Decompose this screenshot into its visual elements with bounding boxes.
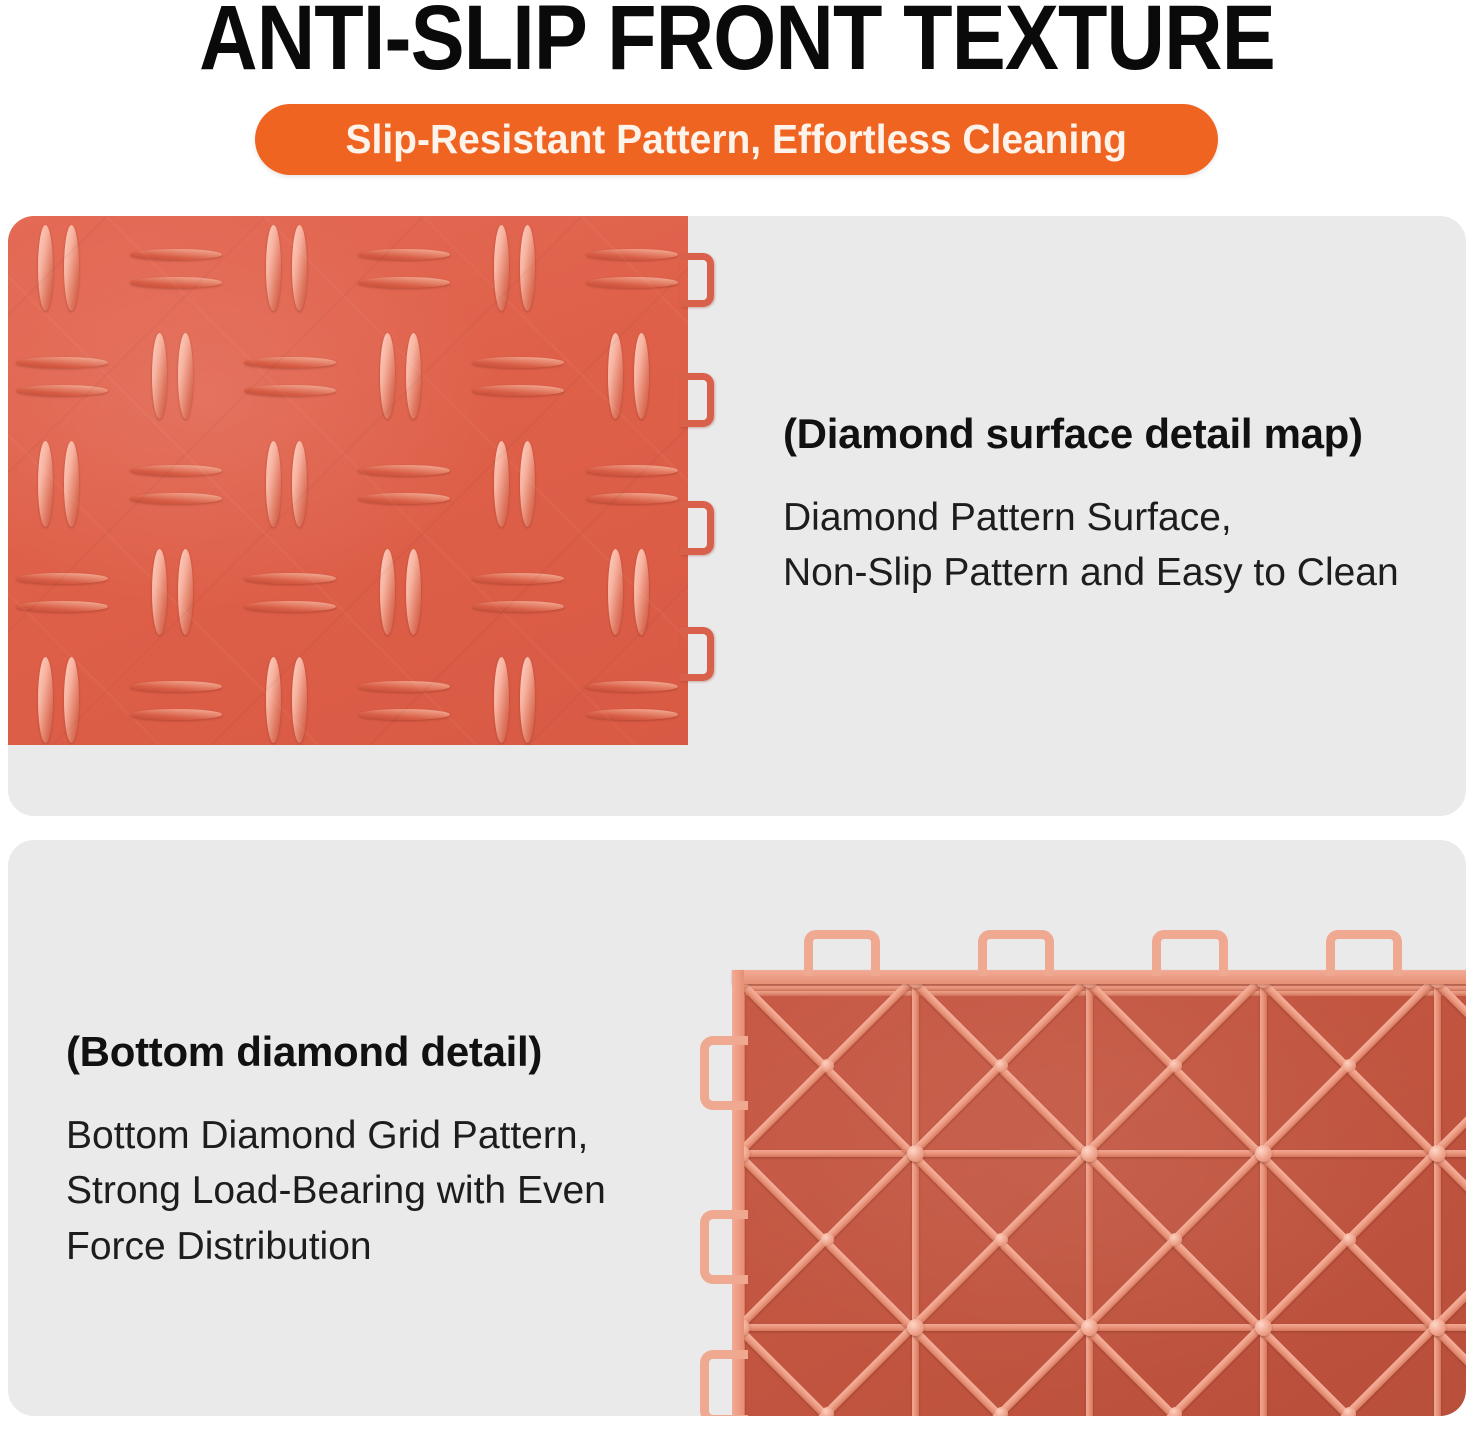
diamond-lens-icon xyxy=(380,333,395,419)
diamond-lens-icon xyxy=(520,657,535,743)
grid-node xyxy=(907,1145,924,1162)
interlock-tab-icon xyxy=(804,930,880,976)
diamond-lens-icon xyxy=(16,601,108,612)
diamond-plate-cell xyxy=(350,541,462,647)
diamond-lens-icon xyxy=(244,601,336,612)
diamond-plate-cell xyxy=(578,649,688,745)
diamond-lens-icon xyxy=(16,385,108,396)
subtitle-badge: Slip-Resistant Pattern, Effortless Clean… xyxy=(255,104,1218,175)
caption-body: Bottom Diamond Grid Pattern, Strong Load… xyxy=(66,1108,706,1274)
diamond-plate-cell xyxy=(122,433,234,539)
diamond-plate-cell xyxy=(8,649,120,745)
caption-title: (Bottom diamond detail) xyxy=(66,1030,706,1074)
diamond-lens-icon xyxy=(292,441,307,527)
grid-nub xyxy=(1343,1059,1356,1072)
bottom-grid-caption: (Bottom diamond detail) Bottom Diamond G… xyxy=(66,1030,706,1274)
diamond-lens-icon xyxy=(520,441,535,527)
grid-diagonal-rib xyxy=(1257,1325,1437,1416)
diamond-plate-cell xyxy=(578,325,688,431)
diamond-lens-icon xyxy=(586,681,678,692)
interlock-tab-icon xyxy=(680,627,714,681)
diamond-lens-icon xyxy=(472,573,564,584)
interlock-tab-icon xyxy=(1326,930,1402,976)
diamond-plate-cell xyxy=(8,217,120,323)
subtitle-badge-label: Slip-Resistant Pattern, Effortless Clean… xyxy=(346,116,1127,163)
grid-nub xyxy=(821,1059,834,1072)
diamond-lens-icon xyxy=(130,465,222,476)
diamond-plate-cell xyxy=(236,649,348,745)
grid-diagonal-rib xyxy=(738,1325,915,1416)
grid-rib-vertical xyxy=(1434,976,1441,1416)
diamond-lens-icon xyxy=(244,573,336,584)
diamond-lens-icon xyxy=(358,249,450,260)
diamond-lens-icon xyxy=(178,549,193,635)
diamond-lens-icon xyxy=(494,441,509,527)
grid-node xyxy=(1255,1319,1272,1336)
grid-nub xyxy=(821,1233,834,1246)
interlock-tab-icon xyxy=(700,1210,748,1284)
interlock-tab-icon xyxy=(680,501,714,555)
grid-rib-vertical xyxy=(912,976,919,1416)
grid-nub xyxy=(995,1407,1008,1416)
diamond-plate-cell xyxy=(350,649,462,745)
diamond-plate-texture xyxy=(8,216,688,745)
diamond-plate-cell xyxy=(464,433,576,539)
diamond-lens-icon xyxy=(358,681,450,692)
diamond-lens-icon xyxy=(178,333,193,419)
diamond-lens-icon xyxy=(266,225,281,311)
interlock-tab-icon xyxy=(680,253,714,307)
diamond-lens-icon xyxy=(16,357,108,368)
diamond-lens-icon xyxy=(266,657,281,743)
diamond-lens-icon xyxy=(292,657,307,743)
diamond-lens-icon xyxy=(358,277,450,288)
caption-line: Bottom Diamond Grid Pattern, xyxy=(66,1108,706,1163)
diamond-lens-icon xyxy=(38,657,53,743)
caption-line: Strong Load-Bearing with Even xyxy=(66,1163,706,1218)
diamond-grid-structure xyxy=(738,976,1466,1416)
diamond-lens-icon xyxy=(586,249,678,260)
diamond-lens-icon xyxy=(38,441,53,527)
grid-nub xyxy=(995,1233,1008,1246)
diamond-plate-cell xyxy=(464,217,576,323)
interlock-tab-icon xyxy=(700,1036,748,1110)
diamond-lens-icon xyxy=(608,333,623,419)
interlock-tab-icon xyxy=(680,373,714,427)
diamond-lens-icon xyxy=(472,601,564,612)
diamond-lens-icon xyxy=(130,249,222,260)
diamond-plate-cell xyxy=(122,541,234,647)
diamond-lens-icon xyxy=(38,225,53,311)
grid-rib-horizontal xyxy=(738,1324,1466,1331)
diamond-plate-cell xyxy=(122,217,234,323)
interlock-tab-icon xyxy=(1152,930,1228,976)
diamond-plate-cell xyxy=(464,649,576,745)
diamond-plate-cell xyxy=(236,541,348,647)
page-title: ANTI-SLIP FRONT TEXTURE xyxy=(88,0,1385,84)
diamond-surface-image xyxy=(8,216,696,747)
diamond-lens-icon xyxy=(244,357,336,368)
diamond-plate-cell xyxy=(236,325,348,431)
grid-diagonal-rib xyxy=(909,1325,1089,1416)
diamond-lens-icon xyxy=(64,225,79,311)
caption-line: Diamond Pattern Surface, xyxy=(783,490,1443,545)
diamond-plate-cell xyxy=(350,433,462,539)
diamond-plate-cell xyxy=(236,433,348,539)
grid-node xyxy=(1081,1145,1098,1162)
grid-diagonal-rib xyxy=(738,1325,915,1416)
grid-diagonal-rib xyxy=(1257,1325,1437,1416)
diamond-lens-icon xyxy=(292,225,307,311)
grid-node xyxy=(1255,1145,1272,1162)
diamond-lens-icon xyxy=(586,277,678,288)
grid-rib-horizontal xyxy=(738,1150,1466,1157)
caption-title: (Diamond surface detail map) xyxy=(783,412,1443,456)
diamond-lens-icon xyxy=(358,465,450,476)
grid-diagonal-rib xyxy=(1083,1325,1263,1416)
diamond-plate-cell xyxy=(464,541,576,647)
diamond-plate-cell xyxy=(350,217,462,323)
grid-node xyxy=(1429,1319,1446,1336)
diamond-lens-icon xyxy=(634,333,649,419)
grid-nub xyxy=(1169,1407,1182,1416)
grid-node xyxy=(907,1319,924,1336)
interlock-tab-icon xyxy=(978,930,1054,976)
grid-diagonal-rib xyxy=(909,1325,1089,1416)
diamond-lens-icon xyxy=(130,681,222,692)
grid-diagonal-rib xyxy=(1083,1325,1263,1416)
caption-line: Non-Slip Pattern and Easy to Clean xyxy=(783,545,1443,600)
diamond-lens-icon xyxy=(608,549,623,635)
diamond-plate-cell xyxy=(122,649,234,745)
diamond-lens-icon xyxy=(64,441,79,527)
diamond-lens-icon xyxy=(244,385,336,396)
diamond-plate-cell xyxy=(578,217,688,323)
panel-diamond-surface: (Diamond surface detail map) Diamond Pat… xyxy=(8,216,1466,816)
diamond-lens-icon xyxy=(406,333,421,419)
bottom-grid-image xyxy=(700,930,1466,1416)
diamond-surface-caption: (Diamond surface detail map) Diamond Pat… xyxy=(783,412,1443,601)
diamond-lens-icon xyxy=(16,573,108,584)
diamond-lens-icon xyxy=(494,657,509,743)
diamond-plate-cell xyxy=(350,325,462,431)
caption-body: Diamond Pattern Surface, Non-Slip Patter… xyxy=(783,490,1443,601)
diamond-lens-icon xyxy=(64,657,79,743)
diamond-plate-cell xyxy=(8,541,120,647)
diamond-lens-icon xyxy=(266,441,281,527)
diamond-lens-icon xyxy=(494,225,509,311)
grid-nub xyxy=(1169,1059,1182,1072)
diamond-lens-icon xyxy=(586,709,678,720)
caption-line: Force Distribution xyxy=(66,1219,706,1274)
grid-nub xyxy=(1169,1233,1182,1246)
grid-nub xyxy=(995,1059,1008,1072)
diamond-lens-icon xyxy=(152,549,167,635)
diamond-lens-icon xyxy=(472,385,564,396)
diamond-lens-icon xyxy=(130,493,222,504)
diamond-lens-icon xyxy=(152,333,167,419)
diamond-lens-icon xyxy=(358,709,450,720)
diamond-lens-icon xyxy=(634,549,649,635)
diamond-plate-cell xyxy=(236,217,348,323)
diamond-plate-cell xyxy=(578,541,688,647)
diamond-plate-cell xyxy=(8,325,120,431)
diamond-lens-icon xyxy=(358,493,450,504)
grid-rib-vertical xyxy=(1086,976,1093,1416)
diamond-plate-cell xyxy=(8,433,120,539)
diamond-lens-icon xyxy=(130,709,222,720)
diamond-plate-cell xyxy=(578,433,688,539)
diamond-lens-icon xyxy=(406,549,421,635)
diamond-plate-cell xyxy=(122,325,234,431)
grid-nub xyxy=(821,1407,834,1416)
diamond-lens-icon xyxy=(586,493,678,504)
grid-node xyxy=(1429,1145,1446,1162)
header-section: ANTI-SLIP FRONT TEXTURE Slip-Resistant P… xyxy=(0,0,1474,200)
panel-bottom-grid: (Bottom diamond detail) Bottom Diamond G… xyxy=(8,840,1466,1416)
diamond-plate-cell xyxy=(464,325,576,431)
diamond-lens-icon xyxy=(130,277,222,288)
diamond-lens-icon xyxy=(520,225,535,311)
diamond-lens-icon xyxy=(380,549,395,635)
grid-nub xyxy=(1343,1233,1356,1246)
diamond-lens-icon xyxy=(586,465,678,476)
interlock-tab-icon xyxy=(700,1350,748,1416)
grid-rib-vertical xyxy=(1260,976,1267,1416)
diamond-lens-icon xyxy=(472,357,564,368)
grid-node xyxy=(1081,1319,1098,1336)
grid-nub xyxy=(1343,1407,1356,1416)
